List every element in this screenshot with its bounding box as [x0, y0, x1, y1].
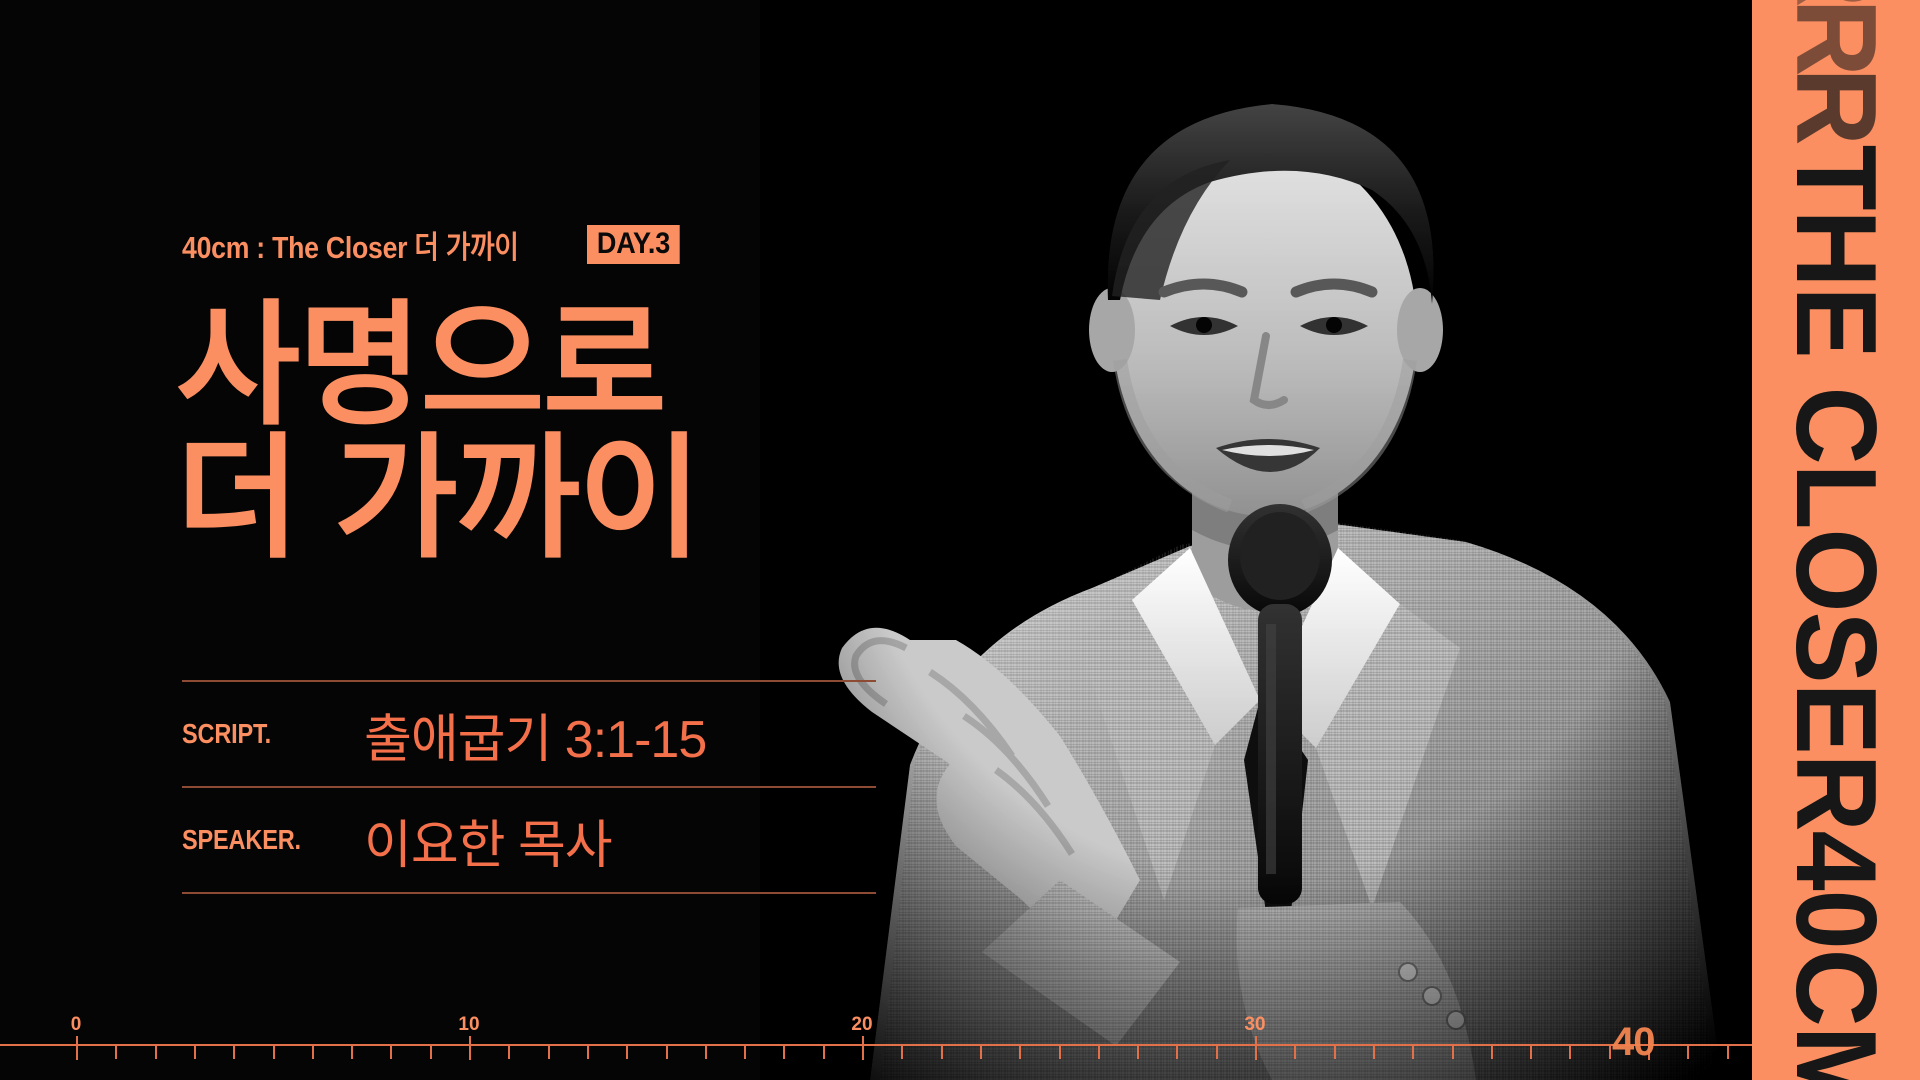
- ruler-baseline: [0, 1044, 1752, 1046]
- ruler-tick-minor: [508, 1046, 510, 1059]
- ruler-tick-minor: [548, 1046, 550, 1059]
- ruler-tick-minor: [1687, 1046, 1689, 1059]
- speaker-photo: [760, 0, 1760, 1080]
- headline-line-2: 더 가까이: [176, 429, 700, 568]
- ruler-tick-minor: [1019, 1046, 1021, 1059]
- ruler-tick-minor: [1569, 1046, 1571, 1059]
- ruler-tick-minor: [312, 1046, 314, 1059]
- ruler-tick-minor: [901, 1046, 903, 1059]
- ruler-tick-minor: [1530, 1046, 1532, 1059]
- ruler-tick-minor: [705, 1046, 707, 1059]
- ruler-tick-minor: [744, 1046, 746, 1059]
- ruler-tick-minor: [233, 1046, 235, 1059]
- ruler-tick-minor: [1334, 1046, 1336, 1059]
- ruler-tick-minor: [666, 1046, 668, 1059]
- sidebar-echo-r: RRRR: [1782, 0, 1890, 145]
- ruler-tick-minor: [941, 1046, 943, 1059]
- ruler-tick-minor: [430, 1046, 432, 1059]
- ruler-tick-major: [862, 1036, 864, 1060]
- speaker-value: 이요한 목사: [364, 803, 612, 878]
- page-title: 사명으로 더 가까이: [176, 296, 700, 568]
- ruler-tick-minor: [351, 1046, 353, 1059]
- ruler-tick-minor: [155, 1046, 157, 1059]
- sidebar-echo-letter: R: [1779, 0, 1893, 7]
- corner-mark-40: 40: [1612, 1020, 1655, 1065]
- ruler-tick-minor: [1609, 1046, 1611, 1059]
- ruler-tick-minor: [626, 1046, 628, 1059]
- ruler-tick-minor: [273, 1046, 275, 1059]
- ruler-tick-minor: [115, 1046, 117, 1059]
- ruler-tick-label: 20: [851, 1014, 872, 1036]
- sidebar-echo-letter: R: [1779, 68, 1893, 145]
- ruler-tick-label: 0: [71, 1014, 82, 1036]
- ruler-tick-minor: [823, 1046, 825, 1059]
- sidebar-echo-letter: R: [1779, 0, 1893, 76]
- ruler-tick-minor: [587, 1046, 589, 1059]
- ruler-tick-minor: [1727, 1046, 1729, 1059]
- sidebar-word-the-closer: THE CLOSER: [1779, 145, 1893, 831]
- ruler-tick-minor: [1216, 1046, 1218, 1059]
- bottom-ruler: 0102030 40: [0, 1020, 1752, 1066]
- sidebar-wordmark: ‹‹‹‹‹‹‹‹‹ 40CM THE CLOSER RRRR: [1782, 0, 1890, 1080]
- ruler-tick-major: [469, 1036, 471, 1060]
- ruler-tick-minor: [1412, 1046, 1414, 1059]
- ruler-tick-label: 10: [458, 1014, 479, 1036]
- ruler-tick-minor: [1491, 1046, 1493, 1059]
- speaker-label: SPEAKER.: [182, 824, 316, 856]
- brand-sidebar: ‹‹‹‹‹‹‹‹‹ 40CM THE CLOSER RRRR: [1752, 0, 1920, 1080]
- ruler-tick-minor: [980, 1046, 982, 1059]
- ruler-tick-minor: [390, 1046, 392, 1059]
- speaker-photo-illustration: [760, 0, 1760, 1080]
- headline-line-1: 사명으로: [176, 296, 700, 435]
- ruler-tick-minor: [1452, 1046, 1454, 1059]
- day-badge: DAY.3: [587, 225, 680, 265]
- ruler-tick-minor: [1176, 1046, 1178, 1059]
- script-value: 출애굽기 3:1-15: [364, 697, 706, 772]
- ruler-tick-major: [76, 1036, 78, 1060]
- ruler-tick-minor: [1098, 1046, 1100, 1059]
- ruler-tick-minor: [1137, 1046, 1139, 1059]
- ruler-tick-major: [1255, 1036, 1257, 1060]
- ruler-tick-label: 30: [1244, 1014, 1265, 1036]
- content-block: 40cm : The Closer 더 가까이 DAY.3 사명으로 더 가까이…: [182, 0, 902, 1080]
- sidebar-word-40cm: 40CM: [1779, 831, 1893, 1080]
- ruler-tick-minor: [1059, 1046, 1061, 1059]
- speaker-row: SPEAKER. 이요한 목사: [182, 788, 876, 892]
- ruler-tick-minor: [194, 1046, 196, 1059]
- divider-bottom: [182, 892, 876, 894]
- script-row: SCRIPT. 출애굽기 3:1-15: [182, 682, 876, 786]
- ruler-tick-minor: [1373, 1046, 1375, 1059]
- series-title: 40cm : The Closer 더 가까이: [182, 222, 519, 267]
- ruler-tick-minor: [1294, 1046, 1296, 1059]
- ruler-tick-minor: [783, 1046, 785, 1059]
- script-label: SCRIPT.: [182, 718, 316, 750]
- meta-block: SCRIPT. 출애굽기 3:1-15 SPEAKER. 이요한 목사: [182, 680, 876, 894]
- eyebrow: 40cm : The Closer 더 가까이 DAY.3: [182, 222, 691, 267]
- poster-root: 40cm : The Closer 더 가까이 DAY.3 사명으로 더 가까이…: [0, 0, 1920, 1080]
